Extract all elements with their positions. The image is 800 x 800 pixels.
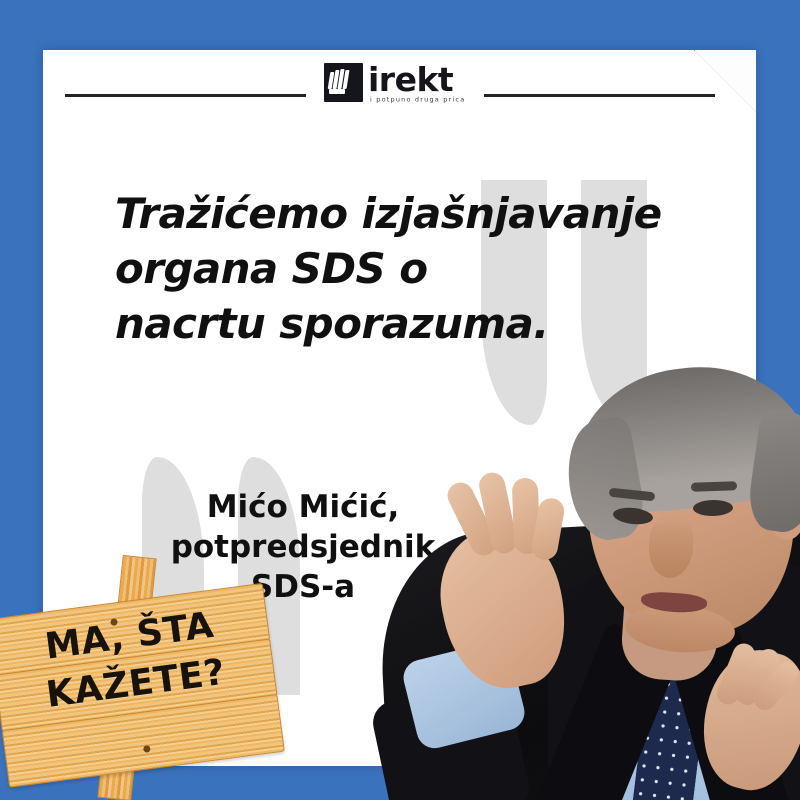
politician-photo (373, 350, 800, 800)
logo-wordmark: irekt (368, 62, 465, 98)
wooden-sign: MA, ŠTA KAŽETE? (0, 556, 288, 800)
fist-logo-icon (324, 63, 363, 102)
site-logo[interactable]: irekt i potpuno druga prica (324, 60, 484, 116)
eyebrow-right-shape (691, 481, 737, 492)
logo-tagline: i potpuno druga prica (368, 96, 465, 104)
poster-canvas: irekt i potpuno druga prica Tražićemo iz… (0, 0, 800, 800)
sign-board: MA, ŠTA KAŽETE? (0, 537, 303, 800)
header-rule-left (65, 94, 306, 97)
header-rule-right (484, 94, 715, 97)
poster-header: irekt i potpuno druga prica (43, 50, 756, 146)
quote-text: Tražićemo izjašnjavanje organa SDS o nac… (115, 186, 715, 351)
logo-wordmark-block: irekt i potpuno druga prica (368, 60, 465, 105)
